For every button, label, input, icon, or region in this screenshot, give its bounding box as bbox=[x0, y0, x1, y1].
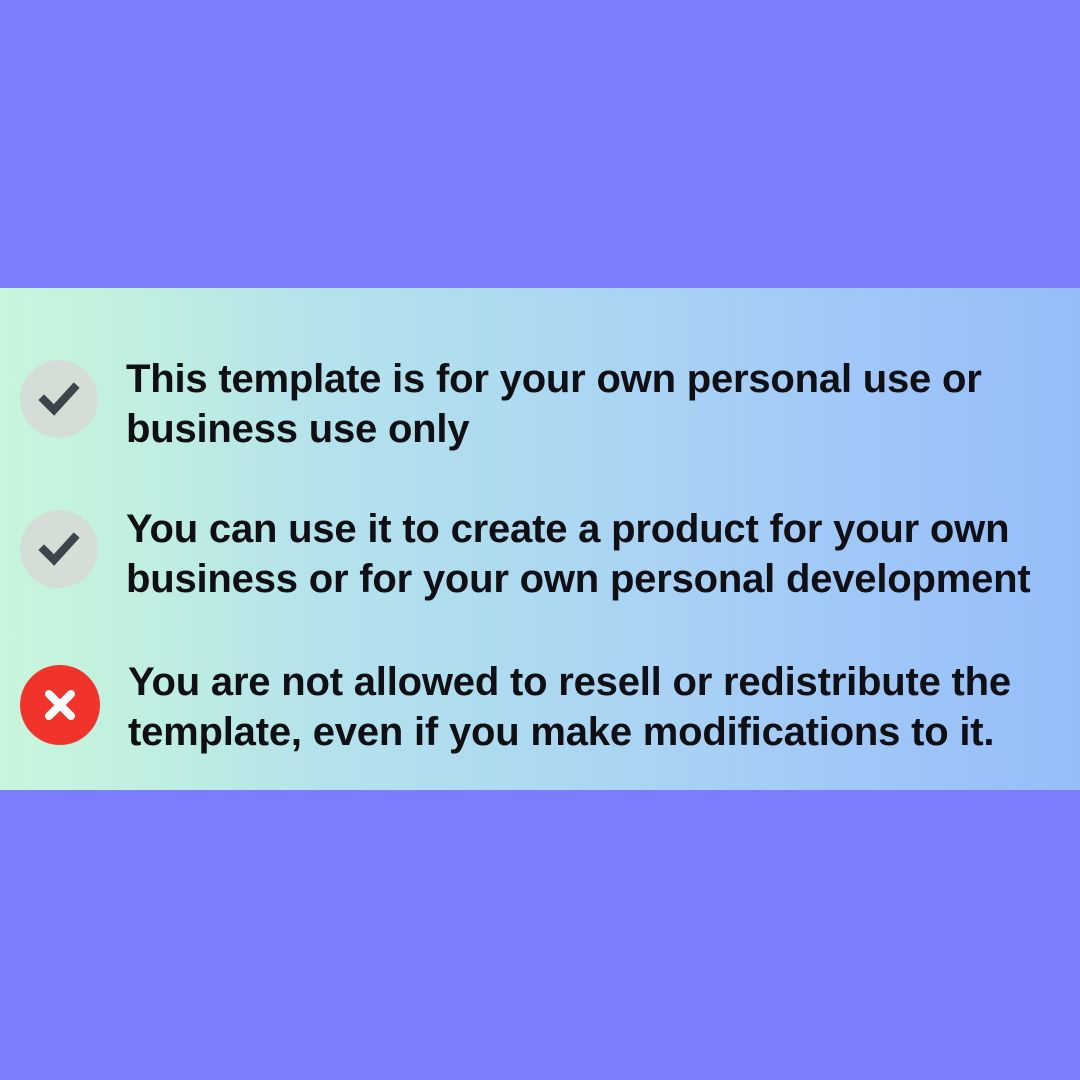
term-text: This template is for your own personal u… bbox=[126, 354, 1080, 454]
slide-canvas: This template is for your own personal u… bbox=[0, 0, 1080, 1080]
list-item: This template is for your own personal u… bbox=[0, 354, 1080, 454]
list-item: You can use it to create a product for y… bbox=[0, 504, 1080, 604]
term-text: You can use it to create a product for y… bbox=[126, 504, 1080, 604]
license-terms-card: This template is for your own personal u… bbox=[0, 288, 1080, 790]
check-circle-icon bbox=[20, 360, 98, 438]
cross-circle-icon bbox=[20, 665, 100, 745]
check-circle-icon bbox=[20, 510, 98, 588]
list-item: You are not allowed to resell or redistr… bbox=[0, 657, 1080, 757]
term-text: You are not allowed to resell or redistr… bbox=[128, 657, 1080, 757]
